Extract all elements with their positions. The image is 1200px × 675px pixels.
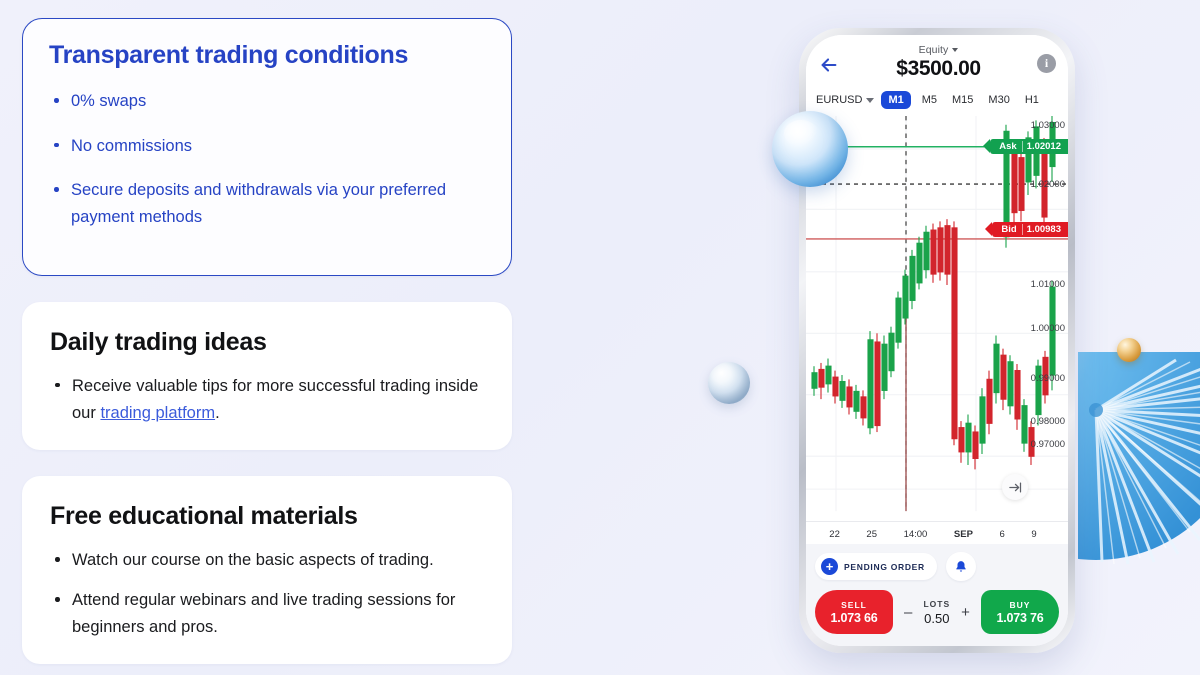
lots-increment-button[interactable]: + [950,604,981,621]
page-root: Transparent trading conditions 0% swaps … [0,0,1200,675]
x-axis-divider [806,521,1068,522]
x-tick-month: SEP [954,529,973,540]
sell-button[interactable]: SELL 1.073 66 [815,590,893,634]
info-icon[interactable]: i [1037,54,1056,73]
lots-value: 0.50 [923,611,950,626]
phone-mockup: Equity $3500.00 i EURUSD M1 M5 M15 M3 [799,28,1075,653]
sell-label: SELL [841,600,867,610]
blue-radial-shell-decoration [1078,352,1200,602]
card-transparent-trading-conditions: Transparent trading conditions 0% swaps … [22,18,512,276]
x-tick: 22 [829,529,840,540]
chart-toolbar: EURUSD M1 M5 M15 M30 H1 [806,85,1068,116]
card-title: Free educational materials [50,502,484,531]
trade-panel: + PENDING ORDER SELL 1.073 66 [806,544,1068,646]
lots-stepper[interactable]: LOTS 0.50 [923,599,950,626]
tag-pointer-icon [985,222,992,236]
buy-price: 1.073 76 [996,611,1043,625]
price-chart[interactable]: Ask 1.02012 Bid 1.00983 1.03000 1.02000 … [806,116,1068,544]
y-tick: 0.99000 [1031,373,1065,384]
alerts-button[interactable] [946,552,976,581]
equity-label-row[interactable]: Equity [840,44,1037,56]
chevron-down-icon [866,98,874,103]
glass-sphere-small-decoration [708,362,750,404]
chevron-down-icon [952,48,958,52]
y-tick: 1.01000 [1031,279,1065,290]
list-item: No commissions [49,133,485,160]
bid-value: 1.00983 [1022,224,1065,235]
pending-order-row: + PENDING ORDER [815,552,1059,581]
phone-screen: Equity $3500.00 i EURUSD M1 M5 M15 M3 [806,35,1068,646]
y-tick: 1.00000 [1031,323,1065,334]
lots-label: LOTS [923,599,950,609]
pending-order-label: PENDING ORDER [844,562,925,572]
x-tick: 14:00 [904,529,928,540]
timeframe-m1[interactable]: M1 [881,91,910,109]
y-tick: 1.02000 [1031,179,1065,190]
timeframe-m30[interactable]: M30 [984,91,1013,109]
card-daily-trading-ideas: Daily trading ideas Receive valuable tip… [22,302,512,450]
gold-sphere-decoration [1117,338,1141,362]
app-header: Equity $3500.00 i [806,35,1068,85]
equity-label: Equity [919,44,949,56]
arrow-to-line-icon [1008,480,1023,495]
symbol-label: EURUSD [816,94,862,106]
x-tick: 9 [1031,529,1036,540]
x-tick: 6 [999,529,1004,540]
list-item-text-after: . [215,404,220,422]
x-axis: 22 25 14:00 SEP 6 9 [806,529,1068,540]
card-bullet-list: Receive valuable tips for more successfu… [50,373,484,426]
card-bullet-list: 0% swaps No commissions Secure deposits … [49,88,485,231]
list-item: Secure deposits and withdrawals via your… [49,177,485,230]
list-item: Receive valuable tips for more successfu… [50,373,484,426]
glass-sphere-large-decoration [772,111,848,187]
y-tick: 1.03000 [1031,120,1065,131]
equity-block[interactable]: Equity $3500.00 [840,44,1037,81]
list-item: 0% swaps [49,88,485,115]
y-tick: 0.97000 [1031,439,1065,450]
card-title: Transparent trading conditions [49,41,485,70]
trading-platform-link[interactable]: trading platform [100,404,215,422]
x-tick: 25 [866,529,877,540]
bid-label: Bid [992,224,1021,235]
card-title: Daily trading ideas [50,328,484,357]
arrow-left-icon[interactable] [818,54,840,76]
list-item: Watch our course on the basic aspects of… [50,547,484,574]
ask-label: Ask [990,141,1021,152]
sell-price: 1.073 66 [830,611,877,625]
timeframe-m5[interactable]: M5 [918,91,941,109]
order-row: SELL 1.073 66 – LOTS 0.50 + BUY 1.073 76 [815,590,1059,634]
y-tick: 0.98000 [1031,416,1065,427]
ask-price-tag: Ask 1.02012 [990,139,1068,154]
candlestick-canvas [806,116,1068,544]
tag-pointer-icon [983,139,990,153]
list-item: Attend regular webinars and live trading… [50,587,484,640]
ask-value: 1.02012 [1022,141,1065,152]
plus-circle-icon: + [821,558,838,575]
lots-decrement-button[interactable]: – [893,604,923,621]
card-free-educational-materials: Free educational materials Watch our cou… [22,476,512,664]
buy-button[interactable]: BUY 1.073 76 [981,590,1059,634]
jump-to-end-icon[interactable] [1002,474,1028,500]
bell-icon [954,560,968,574]
timeframe-h1[interactable]: H1 [1021,91,1043,109]
symbol-selector[interactable]: EURUSD [816,94,874,106]
buy-label: BUY [1010,600,1031,610]
timeframe-m15[interactable]: M15 [948,91,977,109]
bid-price-tag: Bid 1.00983 [992,222,1068,237]
equity-value: $3500.00 [840,57,1037,81]
feature-cards-column: Transparent trading conditions 0% swaps … [22,18,512,675]
card-bullet-list: Watch our course on the basic aspects of… [50,547,484,640]
pending-order-button[interactable]: + PENDING ORDER [815,553,937,580]
